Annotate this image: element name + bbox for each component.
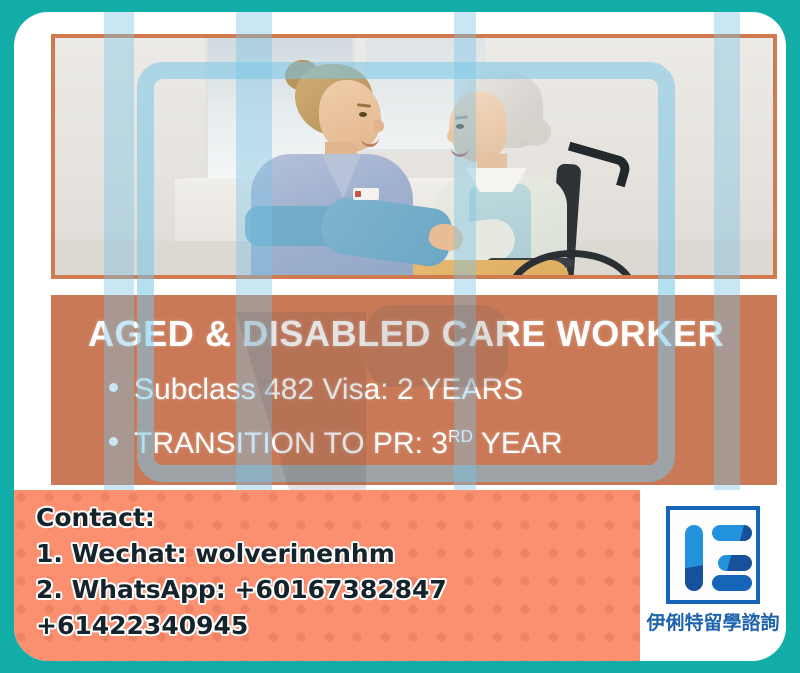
logo-bar-top xyxy=(712,525,752,541)
company-logo-icon xyxy=(666,506,760,604)
poster-canvas: AGED & DISABLED CARE WORKER Subclass 482… xyxy=(0,0,800,673)
bullet-dot-icon xyxy=(109,437,118,446)
photo-frame xyxy=(51,34,777,279)
headline-band: AGED & DISABLED CARE WORKER Subclass 482… xyxy=(51,295,777,485)
contact-wechat-line[interactable]: 1. Wechat: wolverinenhm xyxy=(36,536,447,572)
logo-bar-middle xyxy=(718,555,752,571)
white-card: AGED & DISABLED CARE WORKER Subclass 482… xyxy=(14,12,786,661)
contact-heading: Contact: xyxy=(36,500,447,536)
nurse-smile xyxy=(361,134,379,147)
elder-nose xyxy=(447,130,457,142)
list-item-pr-suffix: YEAR xyxy=(473,427,563,460)
elder-eye xyxy=(456,124,464,129)
nurse-nose xyxy=(374,120,384,132)
list-item-pr-label: TRANSITION TO PR: 3 xyxy=(134,427,448,460)
page-title: AGED & DISABLED CARE WORKER xyxy=(88,313,724,355)
list-item-pr-ordinal: RD xyxy=(448,426,473,446)
contact-phone-line[interactable]: +61422340945 xyxy=(36,608,447,644)
logo-panel: 伊俐特留學諮詢 xyxy=(640,490,786,661)
list-item-visa: Subclass 482 Visa: 2 YEARS xyxy=(109,367,563,413)
contact-text-block: Contact: 1. Wechat: wolverinenhm 2. What… xyxy=(36,500,447,644)
list-item-pr: TRANSITION TO PR: 3RD YEAR xyxy=(109,413,563,467)
photo-nurse xyxy=(233,54,443,275)
benefits-list: Subclass 482 Visa: 2 YEARS TRANSITION TO… xyxy=(109,367,563,467)
contact-panel: Contact: 1. Wechat: wolverinenhm 2. What… xyxy=(14,490,640,661)
logo-bar-bottom xyxy=(712,575,752,591)
nurse-eye xyxy=(359,112,367,117)
elder-hair-bun xyxy=(521,118,551,146)
contact-whatsapp-line[interactable]: 2. WhatsApp: +60167382847 xyxy=(36,572,447,608)
list-item-visa-label: Subclass 482 Visa: 2 YEARS xyxy=(134,373,523,406)
bullet-dot-icon xyxy=(109,383,118,392)
care-photo xyxy=(55,38,773,275)
company-name: 伊俐特留學諮詢 xyxy=(640,608,786,635)
nurse-name-badge xyxy=(353,188,379,200)
logo-vertical-bar xyxy=(685,525,703,591)
